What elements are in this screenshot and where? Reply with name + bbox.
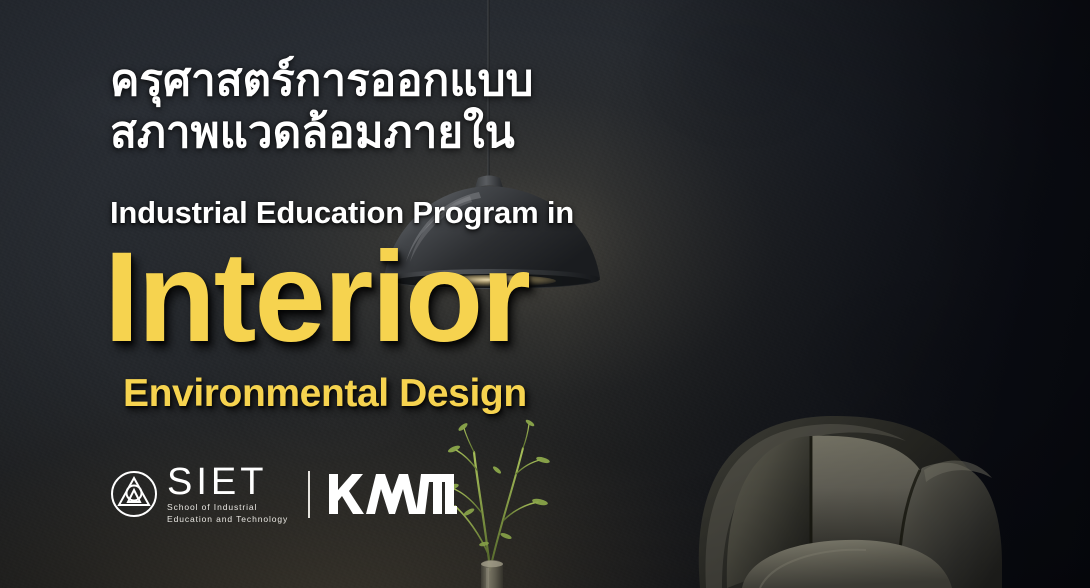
text-content: ครุศาสตร์การออกแบบ สภาพแวดล้อมภายใน Indu…: [110, 0, 750, 588]
logo-lockup: SIET School of Industrial Education and …: [110, 462, 457, 526]
feature-word-interior: Interior: [104, 234, 529, 362]
siet-text-group: SIET School of Industrial Education and …: [167, 464, 288, 525]
siet-tagline-line-1: School of Industrial: [167, 502, 288, 512]
headline-thai-line-2: สภาพแวดล้อมภายใน: [110, 110, 515, 157]
kmitl-wordmark-icon: [327, 472, 457, 516]
subhead-english-2: Environmental Design: [123, 372, 527, 416]
banner-root: ครุศาสตร์การออกแบบ สภาพแวดล้อมภายใน Indu…: [0, 0, 1090, 588]
siet-tagline-line-2: Education and Technology: [167, 514, 288, 524]
headline-thai-line-1: ครุศาสตร์การออกแบบ: [110, 58, 533, 105]
siet-wordmark: SIET: [167, 464, 288, 500]
siet-emblem-icon: [110, 470, 158, 518]
logo-divider: [308, 471, 310, 518]
